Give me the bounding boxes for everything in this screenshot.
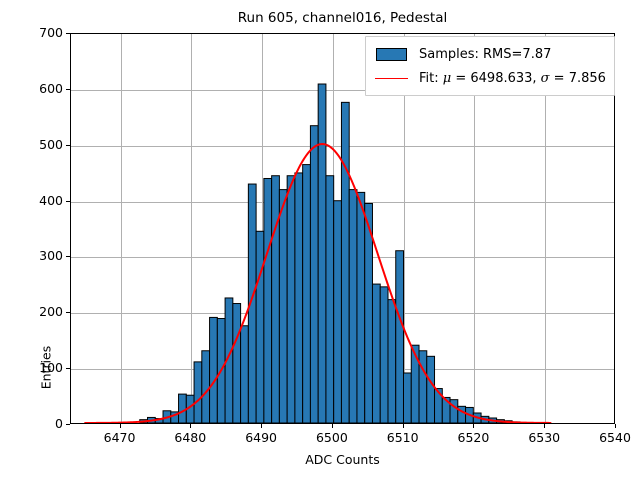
matplotlib-figure: Run 605, channel016, Pedestal 6470648064… [0,0,640,480]
y-tick-mark [66,424,70,425]
x-tick-label: 6500 [302,430,362,445]
x-tick-mark [190,424,191,428]
histogram-bar [334,201,342,423]
y-axis-label-wrapper: Entries [8,165,68,225]
x-axis-label: ADC Counts [70,452,615,467]
histogram-bar [318,84,326,423]
y-tick-label: 500 [17,137,63,152]
histogram-bar [310,126,318,423]
histogram-bar [357,192,365,423]
x-tick-label: 6480 [160,430,220,445]
x-tick-mark [120,424,121,428]
histogram-bars [140,84,520,423]
y-tick-mark [66,145,70,146]
legend-item-samples: Samples: RMS=7.87 [373,42,606,66]
x-tick-mark [403,424,404,428]
histogram-bar [272,176,280,423]
histogram-bar [287,176,295,423]
x-tick-label: 6530 [514,430,574,445]
x-tick-label: 6490 [231,430,291,445]
histogram-bar [279,190,287,423]
x-tick-mark [544,424,545,428]
y-tick-label: 700 [17,25,63,40]
legend-item-fit: Fit: μ = 6498.633, σ = 7.856 [373,66,606,90]
y-tick-mark [66,368,70,369]
histogram-bar [303,165,311,423]
histogram-bar [264,178,272,423]
y-tick-mark [66,33,70,34]
histogram-bar [194,362,202,423]
x-tick-mark [261,424,262,428]
histogram-bar [233,304,241,423]
histogram-bar [372,284,380,423]
y-tick-mark [66,312,70,313]
y-tick-label: 600 [17,81,63,96]
histogram-bar [202,351,210,423]
y-tick-label: 300 [17,248,63,263]
y-tick-mark [66,89,70,90]
histogram-bar [403,373,411,423]
histogram-bar [241,326,249,423]
histogram-bar [380,287,388,423]
y-axis-label: Entries [39,308,54,428]
histogram-bar [349,190,357,423]
x-tick-mark [473,424,474,428]
x-tick-mark [615,424,616,428]
legend-label-fit: Fit: μ = 6498.633, σ = 7.856 [419,71,606,86]
x-tick-mark [332,424,333,428]
histogram-bar [179,394,187,423]
legend-line-icon [373,69,410,87]
legend: Samples: RMS=7.87 Fit: μ = 6498.633, σ =… [365,36,615,96]
histogram-bar [396,251,404,423]
histogram-bar [295,173,303,423]
histogram-bar [388,300,396,423]
histogram-bar [326,176,334,423]
histogram-bar [210,317,218,423]
histogram-bar [411,345,419,423]
histogram-bar [256,231,264,423]
histogram-bar [419,351,427,423]
chart-title: Run 605, channel016, Pedestal [70,10,615,26]
legend-patch-icon [373,45,410,63]
x-tick-label: 6520 [443,430,503,445]
x-tick-label: 6470 [90,430,150,445]
histogram-bar [427,356,435,423]
x-tick-label: 6510 [373,430,433,445]
x-tick-label: 6540 [585,430,640,445]
histogram-bar [341,102,349,423]
legend-label-samples: Samples: RMS=7.87 [419,47,551,62]
y-tick-mark [66,256,70,257]
